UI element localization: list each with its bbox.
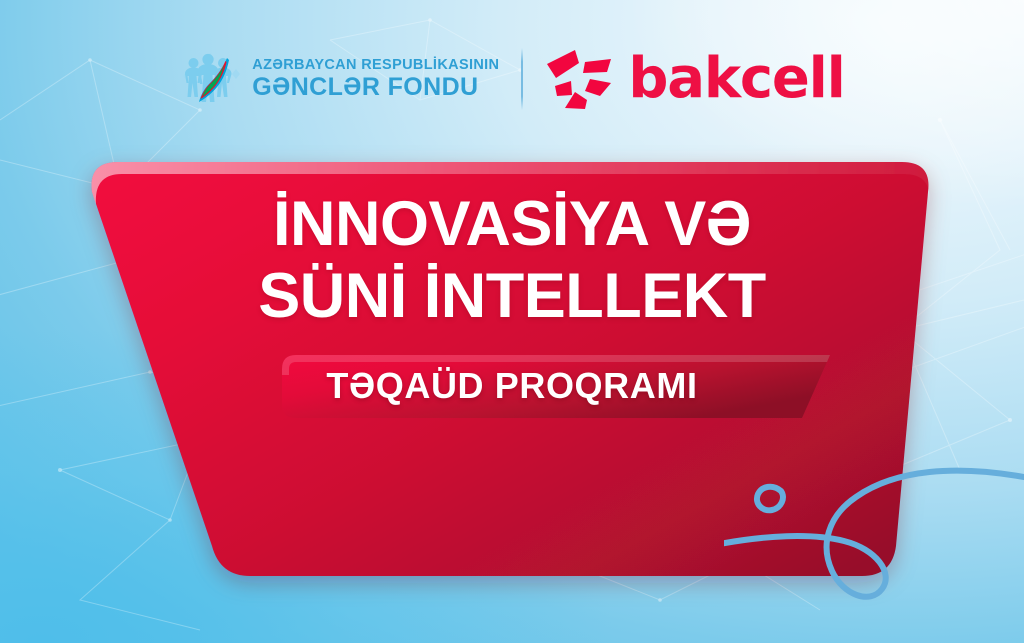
program-badge: TƏQAÜD PROQRAMI bbox=[282, 355, 741, 418]
swoosh-decoration-icon bbox=[724, 453, 1024, 643]
banner-canvas: AZƏRBAYCAN RESPUBLİKASININ GƏNCLƏR FONDU… bbox=[0, 0, 1024, 643]
banner-title-line2: SÜNİ İNTELLEKT bbox=[258, 265, 766, 327]
program-badge-label: TƏQAÜD PROQRAMI bbox=[282, 365, 741, 407]
banner-title-line1: İNNOVASİYA VƏ bbox=[273, 193, 751, 255]
